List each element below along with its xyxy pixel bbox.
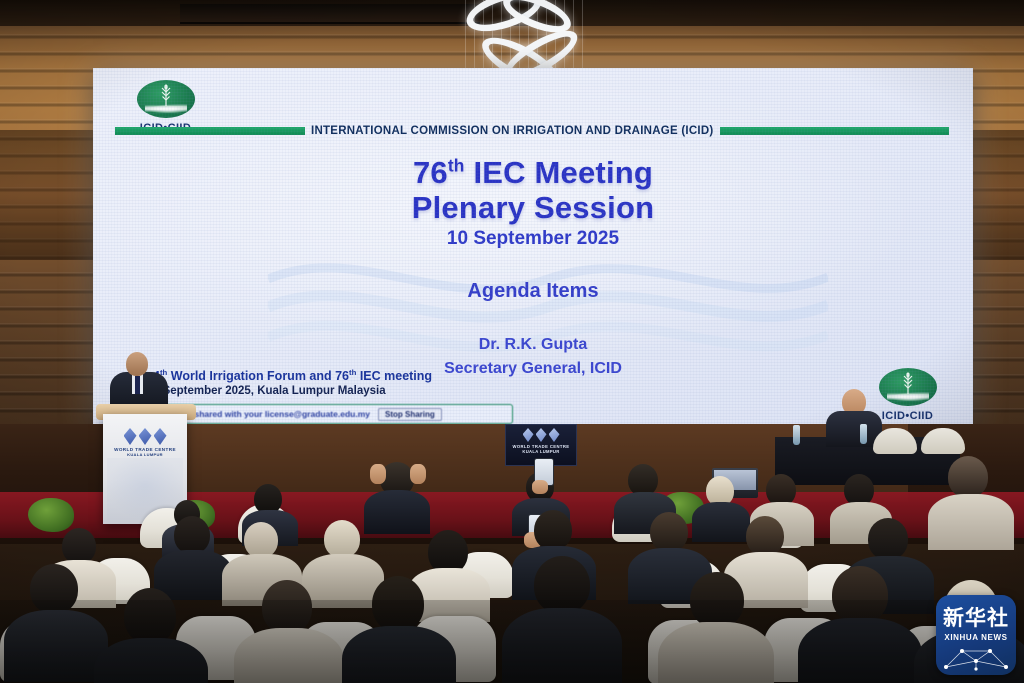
conference-hall-photo: ICID•CIID INTERNATIONAL COMMISSION ON IR… (0, 0, 1024, 683)
xinhua-news-watermark: 新华社 XINHUA NEWS (936, 595, 1016, 675)
head-grey-hair (324, 520, 360, 558)
head (534, 510, 572, 550)
seated-panelist (826, 389, 882, 445)
head (62, 528, 96, 564)
raised-hand-left (370, 464, 386, 484)
speaker-tie (135, 376, 140, 394)
head (174, 516, 210, 554)
raised-hand-right (410, 464, 426, 484)
shoulders (154, 550, 232, 600)
network-nodes-icon (936, 641, 1016, 671)
speaker-head (126, 352, 148, 376)
head (948, 456, 988, 498)
head (650, 512, 688, 552)
head-grey-hair (244, 522, 278, 558)
hand-holding-phone (532, 480, 548, 494)
shoulders-light (928, 494, 1014, 550)
foreground-shadow (0, 600, 1024, 683)
shoulders (692, 502, 750, 542)
shoulders (364, 490, 430, 534)
head (746, 516, 784, 556)
head (868, 518, 908, 560)
watermark-chinese-text: 新华社 (936, 602, 1016, 632)
